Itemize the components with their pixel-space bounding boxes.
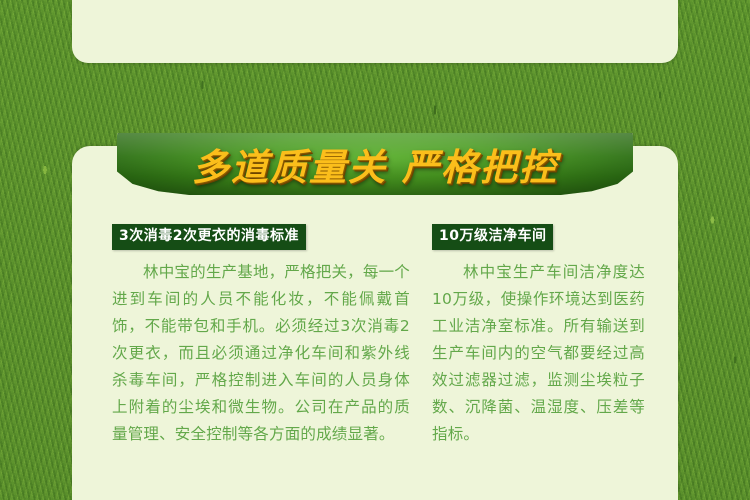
product-detail-page: 多道质量关 严格把控 3次消毒2次更衣的消毒标准 林中宝的生产基地，严格把关，每… xyxy=(0,0,750,500)
top-content-panel xyxy=(72,0,678,63)
section-body-disinfection: 林中宝的生产基地，严格把关，每一个进到车间的人员不能化妆，不能佩戴首饰，不能带包… xyxy=(112,259,410,448)
section-heading-cleanroom: 10万级洁净车间 xyxy=(432,224,553,250)
section-body-cleanroom: 林中宝生产车间洁净度达10万级，使操作环境达到医药工业洁净室标准。所有输送到生产… xyxy=(432,259,645,448)
section-disinfection: 3次消毒2次更衣的消毒标准 林中宝的生产基地，严格把关，每一个进到车间的人员不能… xyxy=(112,224,410,448)
section-banner: 多道质量关 严格把控 xyxy=(117,133,633,198)
banner-title: 多道质量关 严格把控 xyxy=(117,133,633,195)
section-heading-disinfection: 3次消毒2次更衣的消毒标准 xyxy=(112,224,306,250)
section-columns: 3次消毒2次更衣的消毒标准 林中宝的生产基地，严格把关，每一个进到车间的人员不能… xyxy=(112,224,645,448)
section-cleanroom: 10万级洁净车间 林中宝生产车间洁净度达10万级，使操作环境达到医药工业洁净室标… xyxy=(432,224,645,448)
